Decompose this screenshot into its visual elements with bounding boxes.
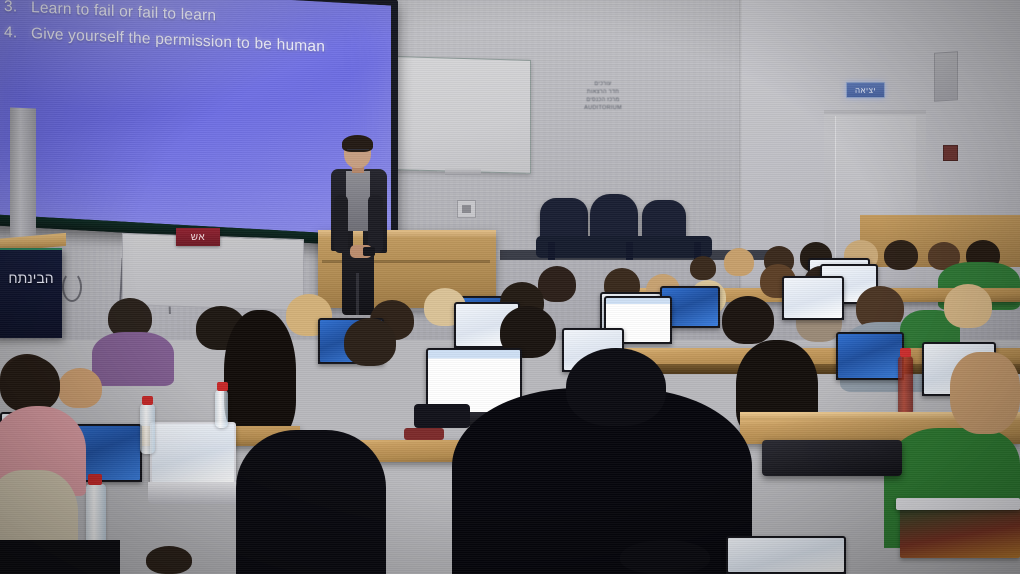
desk-item xyxy=(414,404,470,428)
whiteboard xyxy=(396,56,531,174)
plaque-line-1: עורכים xyxy=(575,80,631,88)
glasses-icon xyxy=(347,149,369,154)
student-head xyxy=(58,368,102,408)
bottle-cap xyxy=(217,382,228,391)
student-head xyxy=(884,240,918,270)
bottle-cap xyxy=(142,396,153,405)
plaque-line-4: AUDITORIUM xyxy=(575,104,631,112)
student-head xyxy=(690,256,716,280)
laptop-keyboard[interactable] xyxy=(148,482,240,504)
plaque-line-3: מרכז הכנסים xyxy=(575,96,631,104)
wall-plaque: עורכים חדר הרצאות מרכז הכנסים AUDITORIUM xyxy=(575,80,631,116)
closed-laptop[interactable] xyxy=(762,440,902,476)
water-bottle[interactable] xyxy=(215,390,228,428)
foreground-student xyxy=(236,430,386,574)
bottle-cap xyxy=(900,348,911,357)
book[interactable] xyxy=(900,506,1020,558)
laptop[interactable] xyxy=(726,536,846,574)
fire-alarm-icon[interactable] xyxy=(943,145,958,161)
soda-bottle[interactable] xyxy=(898,356,913,416)
student-head xyxy=(950,352,1020,434)
laptop-screen xyxy=(728,538,844,572)
audience-area xyxy=(0,240,1020,574)
student-body xyxy=(92,332,174,386)
student-head xyxy=(620,540,710,574)
water-bottle[interactable] xyxy=(140,404,155,454)
laptop-screen xyxy=(152,424,234,482)
student-head xyxy=(722,296,774,344)
plaque-line-2: חדר הרצאות xyxy=(575,88,631,96)
presenter-shirt xyxy=(346,171,370,231)
desk-item xyxy=(404,428,444,440)
foreground-student-head xyxy=(566,348,666,426)
student-head xyxy=(538,266,576,302)
laptop[interactable] xyxy=(782,276,844,320)
bottle-cap xyxy=(88,474,102,485)
laptop[interactable] xyxy=(836,332,904,380)
slide-bullet-number: 3. xyxy=(4,0,20,21)
exit-sign: יציאה xyxy=(846,82,885,98)
student-head xyxy=(146,546,192,574)
student-head xyxy=(224,310,296,440)
laptop-screen xyxy=(838,334,902,378)
whiteboard-tray xyxy=(445,168,481,175)
foreground-shadow xyxy=(0,540,120,574)
student-head xyxy=(0,356,60,412)
wall-outlet xyxy=(457,200,476,218)
student-head xyxy=(344,318,396,366)
lecture-hall-photo: עורכים חדר הרצאות מרכז הכנסים AUDITORIUM… xyxy=(0,0,1020,574)
student-head xyxy=(944,284,992,328)
book-pages xyxy=(896,498,1020,510)
slide-bullet-number: 4. xyxy=(4,20,20,47)
wall-speaker-icon xyxy=(934,51,958,102)
laptop[interactable] xyxy=(150,422,236,484)
laptop-screen xyxy=(784,278,842,318)
student-head xyxy=(724,248,754,276)
